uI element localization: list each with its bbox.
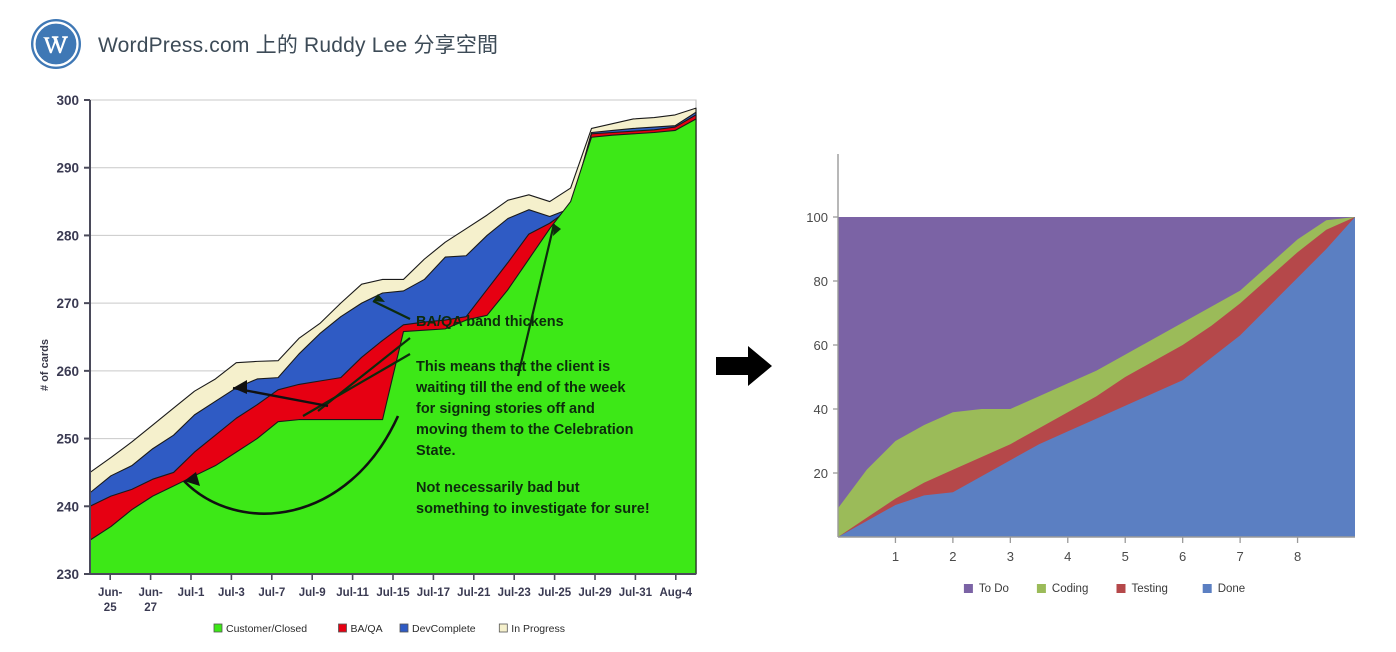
left-chart-canvas: 230240250260270280290300# of cardsJun-25… xyxy=(18,86,708,646)
annotation-client-wait-line: moving them to the Celebration xyxy=(416,422,634,438)
cumulative-flow-diagram-simple: 2040608010012345678To DoCodingTestingDon… xyxy=(780,132,1380,622)
annotation-investigate-line: something to investigate for sure! xyxy=(416,501,650,517)
legend-item-coding: Coding xyxy=(1037,583,1088,595)
y-tick-label: 270 xyxy=(56,296,79,311)
x-tick-label: Jul-9 xyxy=(299,587,326,599)
x-tick-label: Jul-15 xyxy=(376,587,410,599)
y-tick-label: 100 xyxy=(806,210,828,225)
y-tick-label: 240 xyxy=(56,499,79,514)
legend-item-done: Done xyxy=(1203,583,1246,595)
x-tick-label: Jun- xyxy=(138,587,162,599)
x-tick-label: Jul-29 xyxy=(578,587,611,599)
cumulative-flow-diagram-annotated: 230240250260270280290300# of cardsJun-25… xyxy=(18,86,708,646)
legend-label: BA/QA xyxy=(351,623,383,635)
legend-label: Coding xyxy=(1052,583,1088,595)
annotation-client-wait-line: waiting till the end of the week xyxy=(415,380,626,396)
y-tick-label: 280 xyxy=(56,228,79,243)
annotation-ba-qa-thickens: BA/QA band thickens xyxy=(416,314,564,330)
y-axis-title: # of cards xyxy=(39,339,51,391)
x-tick-label: Jul-11 xyxy=(336,587,369,599)
site-header: WordPress.com 上的 Ruddy Lee 分享空間 xyxy=(0,0,1396,88)
annotation-client-wait-line: This means that the client is xyxy=(416,359,610,375)
x-tick-label: 7 xyxy=(1236,549,1243,564)
x-tick-label: 25 xyxy=(104,602,117,614)
legend-label: Done xyxy=(1218,583,1246,595)
y-tick-label: 230 xyxy=(56,567,79,582)
legend-swatch xyxy=(400,624,408,632)
x-tick-label: 6 xyxy=(1179,549,1186,564)
x-tick-label: Jul-17 xyxy=(417,587,450,599)
y-tick-label: 40 xyxy=(814,402,828,417)
right-chart-canvas: 2040608010012345678To DoCodingTestingDon… xyxy=(780,132,1380,622)
legend-swatch xyxy=(499,624,507,632)
x-tick-label: Jul-25 xyxy=(538,587,572,599)
legend-swatch xyxy=(1203,584,1212,593)
legend-item-customer-closed: Customer/Closed xyxy=(214,623,307,635)
legend-item-to-do: To Do xyxy=(964,583,1009,595)
legend-item-ba-qa: BA/QA xyxy=(339,623,383,635)
x-tick-label: Jul-7 xyxy=(258,587,285,599)
page-title: WordPress.com 上的 Ruddy Lee 分享空間 xyxy=(98,29,498,59)
x-tick-label: Jul-3 xyxy=(218,587,245,599)
legend-swatch xyxy=(214,624,222,632)
x-tick-label: Jun- xyxy=(98,587,122,599)
y-tick-label: 250 xyxy=(56,432,79,447)
x-tick-label: 2 xyxy=(949,549,956,564)
legend-swatch xyxy=(339,624,347,632)
legend-label: Testing xyxy=(1132,583,1168,595)
y-tick-label: 60 xyxy=(814,338,828,353)
wordpress-logo-icon xyxy=(30,18,82,70)
y-tick-label: 20 xyxy=(814,466,828,481)
annotation-investigate-line: Not necessarily bad but xyxy=(416,480,580,496)
annotation-client-wait-line: for signing stories off and xyxy=(416,401,595,417)
legend-item-in-progress: In Progress xyxy=(499,623,565,635)
right-arrow-icon xyxy=(712,338,778,394)
x-tick-label: Jul-21 xyxy=(457,587,491,599)
legend-item-testing: Testing xyxy=(1117,583,1168,595)
x-tick-label: 27 xyxy=(144,602,157,614)
legend-swatch xyxy=(1037,584,1046,593)
y-tick-label: 300 xyxy=(56,93,79,108)
x-tick-label: Jul-1 xyxy=(178,587,205,599)
legend-label: In Progress xyxy=(511,623,565,635)
legend-label: To Do xyxy=(979,583,1009,595)
x-tick-label: 1 xyxy=(892,549,899,564)
y-tick-label: 290 xyxy=(56,161,79,176)
x-tick-label: 4 xyxy=(1064,549,1071,564)
x-tick-label: Jul-23 xyxy=(498,587,531,599)
legend-label: DevComplete xyxy=(412,623,476,635)
x-tick-label: 8 xyxy=(1294,549,1301,564)
legend-label: Customer/Closed xyxy=(226,623,307,635)
legend-swatch xyxy=(1117,584,1126,593)
x-tick-label: 5 xyxy=(1122,549,1129,564)
y-tick-label: 260 xyxy=(56,364,79,379)
legend-item-devcomplete: DevComplete xyxy=(400,623,476,635)
x-tick-label: Jul-31 xyxy=(619,587,653,599)
x-tick-label: 3 xyxy=(1007,549,1014,564)
x-tick-label: Aug-4 xyxy=(660,587,693,599)
legend-swatch xyxy=(964,584,973,593)
y-tick-label: 80 xyxy=(814,274,828,289)
annotation-client-wait-line: State. xyxy=(416,443,456,459)
transition-arrow xyxy=(712,338,778,394)
